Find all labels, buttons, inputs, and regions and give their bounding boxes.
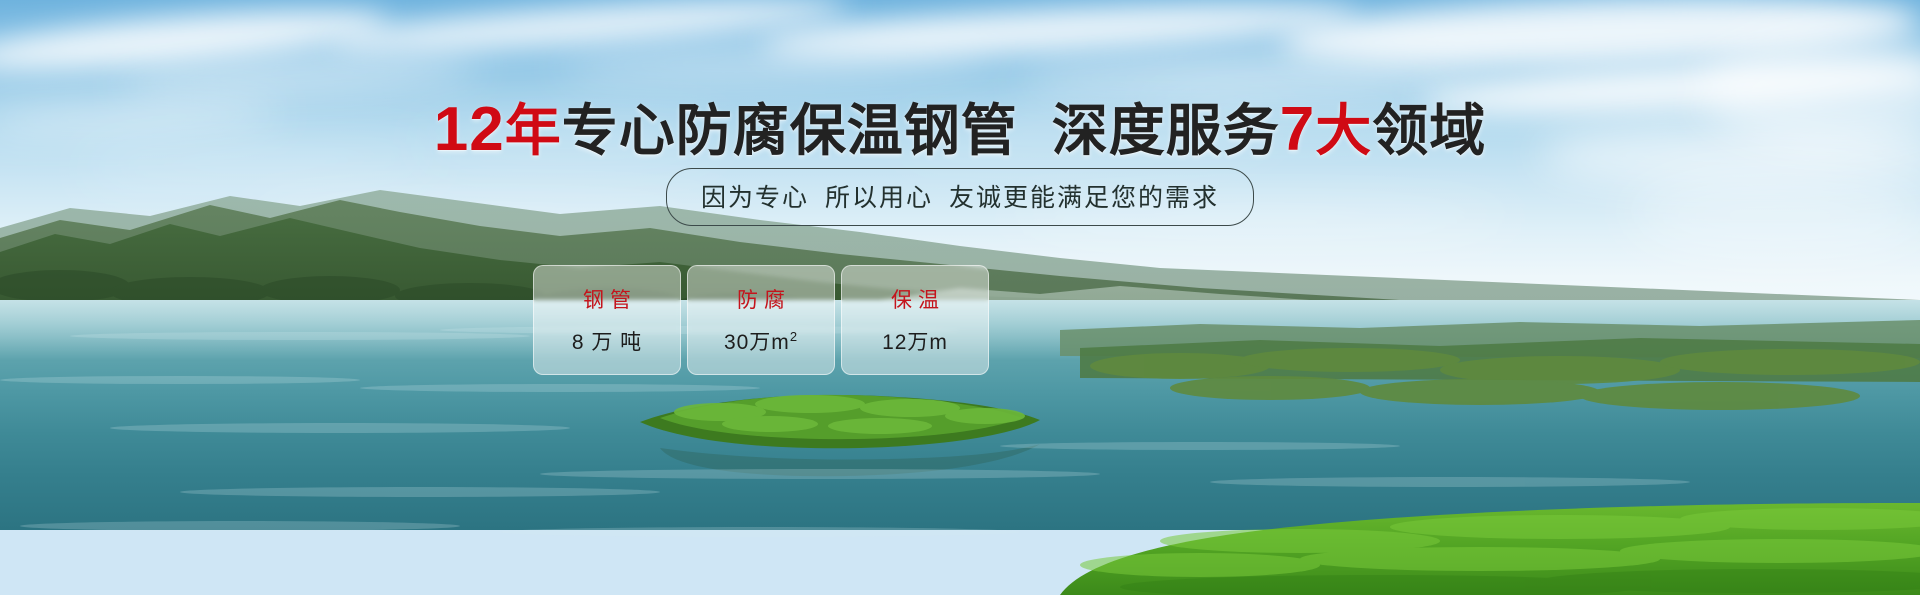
stat-card-steel-pipe[interactable]: 钢管 8 万 吨 — [533, 265, 681, 375]
subtitle-pill: 因为专心所以用心友诚更能满足您的需求 — [666, 168, 1254, 226]
headline-segment-one: 专心防腐保温钢管 — [562, 99, 1018, 162]
headline-years-unit: 年 — [505, 99, 562, 162]
headline-segment-two: 深度服务 — [1052, 99, 1280, 162]
stat-card-value-superscript: 2 — [790, 329, 798, 344]
subtitle-part-three: 友诚更能满足您的需求 — [949, 184, 1219, 212]
foreground-grass — [0, 475, 1920, 595]
stat-card-insulation[interactable]: 保温 12万m — [841, 265, 989, 375]
page-title: 12年专心防腐保温钢管深度服务7大领域 — [0, 86, 1920, 167]
stat-card-value-text: 12万m — [882, 331, 948, 354]
stat-card-anticorrosion[interactable]: 防腐 30万m2 — [687, 265, 835, 375]
stat-card-label: 保温 — [885, 284, 945, 314]
subtitle-container: 因为专心所以用心友诚更能满足您的需求 — [0, 168, 1920, 226]
stat-card-value-text: 30万m — [724, 331, 790, 354]
stat-card-value: 12万m — [882, 326, 948, 356]
headline-segment-three: 领域 — [1372, 99, 1486, 162]
subtitle-part-one: 因为专心 — [701, 184, 809, 212]
subtitle-part-two: 所以用心 — [825, 184, 933, 212]
hero-banner: 12年专心防腐保温钢管深度服务7大领域 因为专心所以用心友诚更能满足您的需求 钢… — [0, 0, 1920, 595]
headline-highlight-number: 7 — [1280, 95, 1315, 164]
stat-card-value: 8 万 吨 — [572, 326, 642, 356]
stat-card-value: 30万m2 — [724, 326, 798, 356]
headline-highlight-unit: 大 — [1315, 99, 1372, 162]
headline-years-number: 12 — [434, 95, 505, 164]
stat-card-label: 钢管 — [577, 284, 637, 314]
stat-card-label: 防腐 — [731, 284, 791, 314]
stat-card-value-text: 8 万 吨 — [572, 331, 642, 354]
stat-cards-group: 钢管 8 万 吨 防腐 30万m2 保温 12万m — [533, 265, 989, 375]
